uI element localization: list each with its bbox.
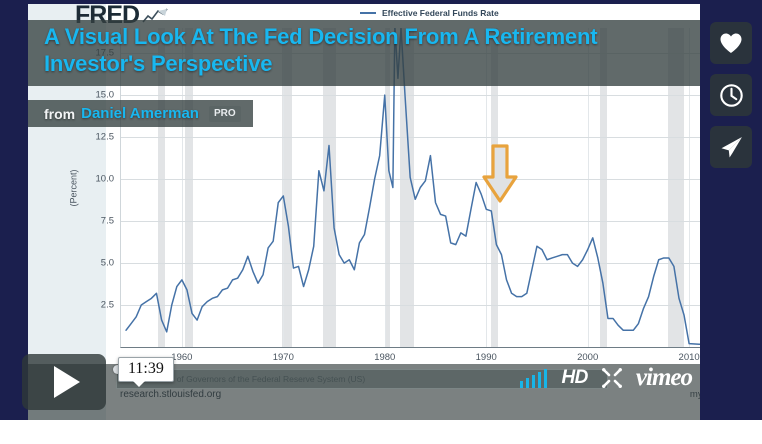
- down-arrow-annotation-icon: [480, 143, 520, 205]
- x-axis-tick-label: 1970: [273, 352, 294, 363]
- y-axis-tick-label: 7.5: [101, 216, 114, 227]
- y-axis-tick-label: 2.5: [101, 300, 114, 311]
- play-button[interactable]: [22, 354, 106, 410]
- y-axis-tick-label: 5.0: [101, 258, 114, 269]
- play-triangle-icon: [54, 366, 80, 398]
- pro-badge: PRO: [209, 106, 241, 122]
- y-axis-tick-label: 15.0: [96, 90, 115, 101]
- video-byline: from Daniel Amerman PRO: [28, 100, 253, 127]
- hd-badge[interactable]: HD: [561, 367, 587, 389]
- legend-label: Effective Federal Funds Rate: [382, 8, 499, 18]
- legend-swatch: [360, 12, 376, 14]
- x-axis-tick-label: 1980: [374, 352, 395, 363]
- y-axis-label: (Percent): [69, 169, 79, 206]
- vimeo-video-player[interactable]: FRED Effective Federal Funds Rate (Perce…: [0, 0, 762, 444]
- player-right-controls: HD vimeo: [520, 364, 692, 392]
- video-title-overlay: A Visual Look At The Fed Decision From A…: [28, 20, 700, 86]
- paper-plane-icon: [719, 135, 744, 160]
- x-axis-tick-label: 2000: [577, 352, 598, 363]
- fullscreen-icon[interactable]: [602, 368, 622, 388]
- duration-tooltip: 11:39: [118, 357, 174, 382]
- player-bottom-rail: [0, 420, 762, 444]
- y-axis-tick-label: 12.5: [96, 132, 115, 143]
- x-axis-tick-label: 1990: [476, 352, 497, 363]
- heart-icon: [719, 32, 743, 54]
- player-top-rail: [0, 0, 762, 4]
- y-axis-tick-label: 10.0: [96, 174, 115, 185]
- chart-legend: Effective Federal Funds Rate: [360, 8, 499, 18]
- share-button[interactable]: [710, 126, 752, 168]
- like-button[interactable]: [710, 22, 752, 64]
- video-title[interactable]: A Visual Look At The Fed Decision From A…: [44, 24, 688, 78]
- byline-prefix: from: [44, 106, 75, 122]
- clock-icon: [719, 83, 744, 108]
- player-actions: [710, 22, 752, 168]
- watch-later-button[interactable]: [710, 74, 752, 116]
- author-link[interactable]: Daniel Amerman: [81, 105, 199, 122]
- volume-slider[interactable]: [520, 369, 548, 388]
- vimeo-wordmark[interactable]: vimeo: [636, 364, 692, 392]
- x-axis-tick-label: 1960: [171, 352, 192, 363]
- x-axis-tick-label: 2010: [679, 352, 700, 363]
